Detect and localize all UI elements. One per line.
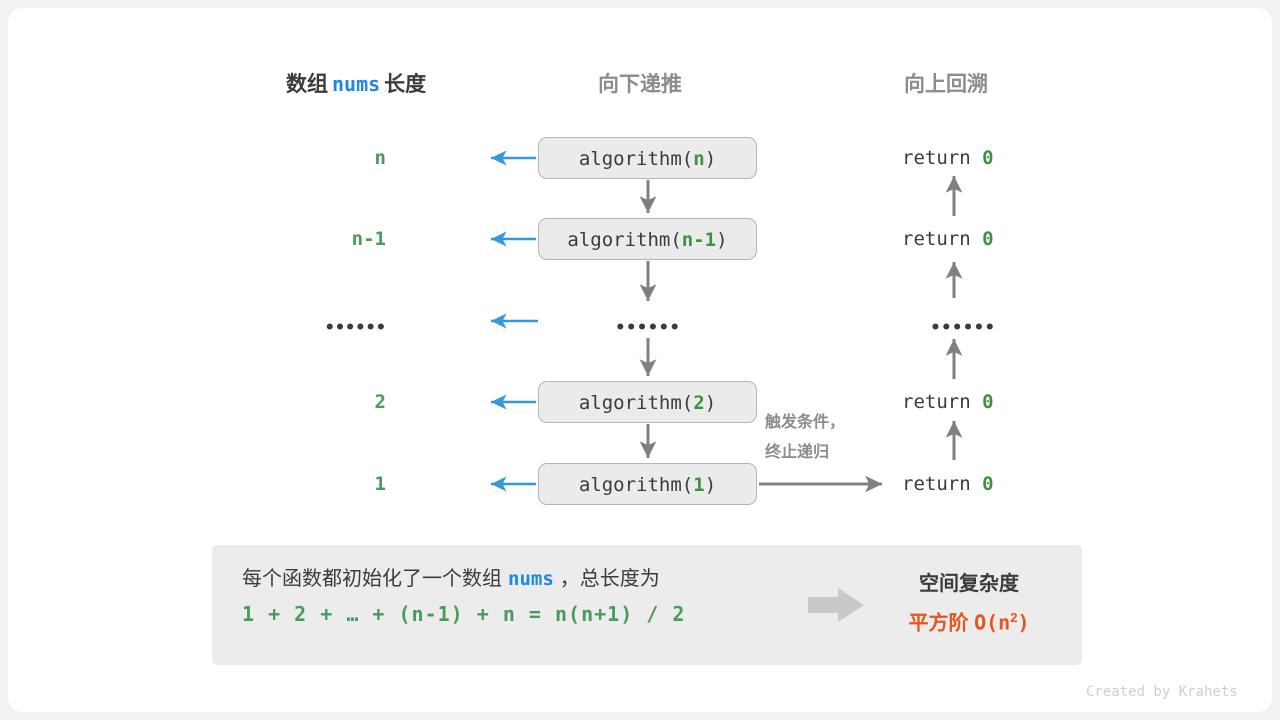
return-statement: return 0 (902, 228, 994, 250)
summary-formula: 1 + 2 + … + (n-1) + n = n(n+1) / 2 (242, 595, 802, 633)
return-value: 0 (982, 228, 993, 250)
call-node-suffix: ) (705, 392, 716, 414)
summary-description-mono: nums (502, 568, 560, 590)
return-keyword: return (902, 473, 971, 495)
call-node: algorithm(2) (538, 381, 757, 423)
return-statement: return 0 (902, 391, 994, 413)
size-label: n-1 (266, 228, 386, 250)
call-node-prefix: algorithm( (579, 148, 693, 170)
summary-conclusion-value-prefix: 平方阶 (909, 613, 969, 635)
size-label-ellipsis: •••••• (266, 318, 386, 338)
size-label: 1 (266, 473, 386, 495)
summary-description: 每个函数都初始化了一个数组nums，总长度为 (242, 563, 802, 595)
call-node-arg: n-1 (682, 229, 716, 251)
summary-text: 每个函数都初始化了一个数组nums，总长度为 1 + 2 + … + (n-1)… (242, 563, 802, 633)
summary-description-prefix: 每个函数都初始化了一个数组 (242, 568, 502, 590)
header-recurse-down: 向下递推 (598, 68, 682, 98)
call-node-ellipsis: •••••• (538, 318, 757, 338)
credit-label: Created by Krahets (1086, 684, 1238, 700)
return-keyword: return (902, 147, 971, 169)
call-node-prefix: algorithm( (567, 229, 681, 251)
termination-note: 触发条件， 终止递归 (765, 408, 885, 468)
diagram-canvas: 数组nums长度 向下递推 向上回溯 (0, 0, 1280, 720)
summary-description-suffix: ，总长度为 (560, 568, 660, 590)
return-value: 0 (982, 147, 993, 169)
call-node: algorithm(n-1) (538, 218, 757, 260)
call-node: algorithm(1) (538, 463, 757, 505)
header-array-length-mono: nums (328, 72, 384, 96)
call-node-prefix: algorithm( (579, 392, 693, 414)
summary-conclusion-value-tail: ) (1017, 611, 1029, 635)
summary-conclusion-value: 平方阶 O(n2) (880, 600, 1058, 642)
summary-block-arrow-icon (808, 586, 866, 624)
header-backtrack-up: 向上回溯 (904, 68, 988, 98)
call-node-arg: 1 (693, 474, 704, 496)
call-node-arg: n (693, 148, 704, 170)
return-keyword: return (902, 391, 971, 413)
header-array-length-suffix: 长度 (384, 73, 426, 96)
return-value: 0 (982, 473, 993, 495)
return-keyword: return (902, 228, 971, 250)
summary-conclusion-value-mono: O(n (974, 611, 1010, 635)
summary-conclusion: 空间复杂度 平方阶 O(n2) (880, 568, 1058, 642)
call-node-suffix: ) (705, 474, 716, 496)
size-label: n (266, 147, 386, 169)
header-array-length: 数组nums长度 (286, 68, 426, 98)
call-node: algorithm(n) (538, 137, 757, 179)
call-node-prefix: algorithm( (579, 474, 693, 496)
call-node-arg: 2 (693, 392, 704, 414)
return-value: 0 (982, 391, 993, 413)
size-label: 2 (266, 391, 386, 413)
return-statement: return 0 (902, 147, 994, 169)
termination-note-line1: 触发条件， (765, 408, 885, 438)
return-ellipsis: •••••• (930, 318, 995, 338)
header-array-length-prefix: 数组 (286, 73, 328, 96)
call-node-suffix: ) (716, 229, 727, 251)
call-node-suffix: ) (705, 148, 716, 170)
return-statement: return 0 (902, 473, 994, 495)
summary-conclusion-title: 空间复杂度 (880, 568, 1058, 600)
blue-size-arrows (491, 158, 538, 484)
diagram-card: 数组nums长度 向下递推 向上回溯 (8, 8, 1272, 712)
termination-note-line2: 终止递归 (765, 438, 885, 468)
